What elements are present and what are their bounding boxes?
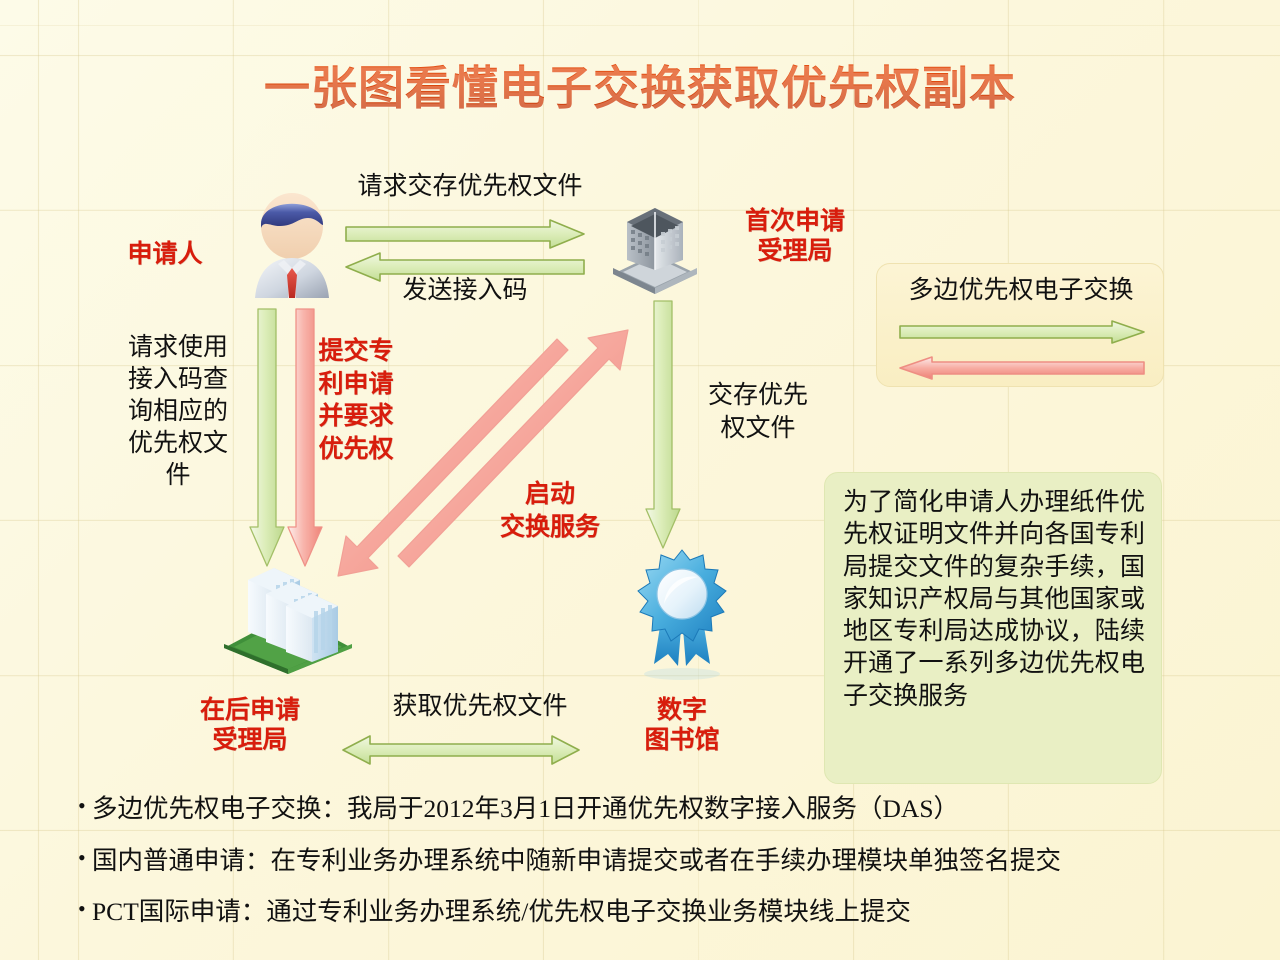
bullet-item: 多边优先权电子交换：我局于2012年3月1日开通优先权数字接入服务（DAS） [78, 796, 1248, 822]
flow-retrieve-priority-doc-label: 获取优先权文件 [360, 692, 600, 722]
later-office-label: 在后申请 受理局 [170, 696, 330, 755]
green-right-arrow-icon [345, 219, 585, 249]
legend-green-right-arrow-icon [899, 320, 1145, 344]
legend-box: 多边优先权电子交换 [876, 263, 1164, 387]
info-note-box: 为了简化申请人办理纸件优先权证明文件并向各国专利局提交文件的复杂手续，国家知识产… [824, 472, 1162, 784]
flow-query-access-code-label: 请求使用 接入码查 询相应的 优先权文 件 [108, 332, 248, 492]
office-building-icon [605, 190, 705, 295]
bullet-item: PCT国际申请：通过专利业务办理系统/优先权电子交换业务模块线上提交 [78, 899, 1248, 925]
page-title: 一张图看懂电子交换获取优先权副本 [0, 52, 1280, 118]
digital-library-label: 数字 图书馆 [620, 696, 744, 755]
applicant-label: 申请人 [100, 240, 230, 270]
first-office-label: 首次申请 受理局 [710, 207, 880, 266]
flow-send-access-code-label: 发送接入码 [340, 276, 590, 306]
flow-start-exchange-label: 启动 交换服务 [470, 478, 630, 544]
bullet-item: 国内普通申请：在专利业务办理系统中随新申请提交或者在手续办理模块单独签名提交 [78, 848, 1248, 874]
flow-request-deposit-label: 请求交存优先权文件 [330, 172, 610, 202]
city-buildings-icon [218, 552, 358, 676]
legend-label: 多边优先权电子交换 [877, 270, 1165, 306]
info-note-text: 为了简化申请人办理纸件优先权证明文件并向各国专利局提交文件的复杂手续，国家知识产… [843, 487, 1145, 713]
flow-deposit-priority-doc-label: 交存优先 权文件 [688, 380, 828, 445]
bullet-list: 多边优先权电子交换：我局于2012年3月1日开通优先权数字接入服务（DAS） 国… [78, 796, 1248, 951]
person-icon [240, 182, 344, 300]
legend-red-left-arrow-icon [899, 356, 1145, 380]
award-ribbon-icon [622, 546, 742, 680]
green-double-arrow-icon [342, 735, 580, 765]
green-down-arrow-icon [249, 308, 285, 568]
slide-canvas: 一张图看懂电子交换获取优先权副本 [0, 0, 1280, 960]
green-down-arrow-deposit-icon [645, 300, 681, 550]
